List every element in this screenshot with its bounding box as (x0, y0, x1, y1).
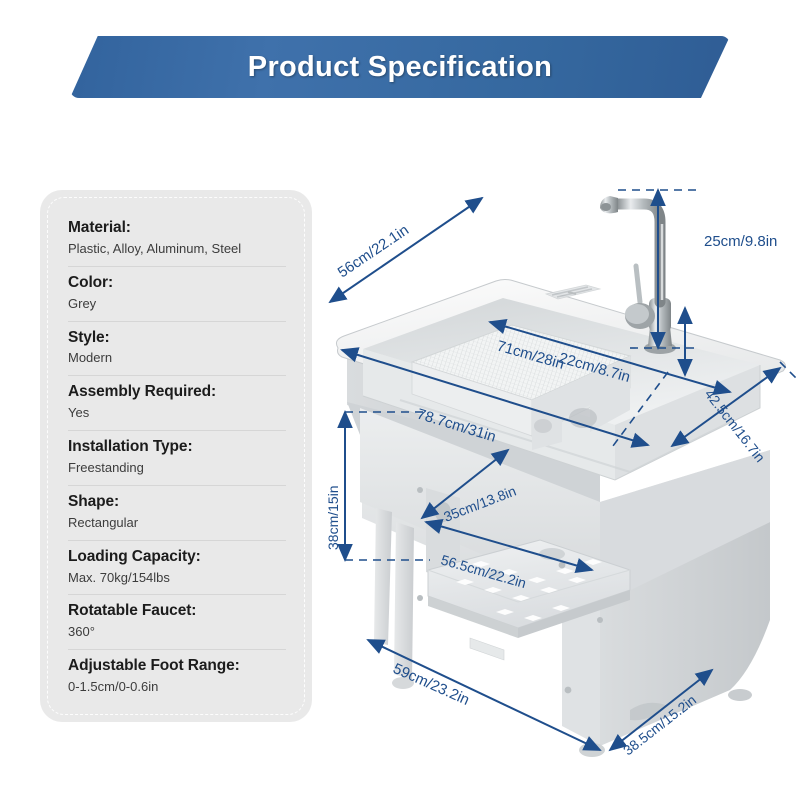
spec-row-assembly-required: Assembly Required: Yes (68, 376, 286, 431)
spec-label: Style: (68, 328, 286, 349)
spec-row-adjustable-foot-range: Adjustable Foot Range: 0-1.5cm/0-0.6in (68, 650, 286, 704)
spec-value: Grey (68, 295, 286, 314)
shelf-drain-ribs (470, 638, 504, 660)
spec-row-shape: Shape: Rectangular (68, 486, 286, 541)
spec-row-rotatable-faucet: Rotatable Faucet: 360° (68, 595, 286, 650)
dimension-label-faucet-height: 25cm/9.8in (704, 233, 777, 250)
dimline-depth-top-left (330, 198, 482, 302)
spec-label: Rotatable Faucet: (68, 601, 286, 622)
specification-panel-inner: Material: Plastic, Alloy, Aluminum, Stee… (47, 197, 305, 715)
spec-label: Assembly Required: (68, 382, 286, 403)
header-banner-area: Product Specification (0, 0, 800, 130)
dimension-label-shelf-height: 38cm/15in (325, 485, 341, 550)
spec-label: Adjustable Foot Range: (68, 656, 286, 677)
specification-panel: Material: Plastic, Alloy, Aluminum, Stee… (40, 190, 312, 722)
spec-row-material: Material: Plastic, Alloy, Aluminum, Stee… (68, 212, 286, 267)
spec-label: Color: (68, 273, 286, 294)
spec-value: Rectangular (68, 514, 286, 533)
spec-value: Yes (68, 404, 286, 423)
spec-value: Modern (68, 349, 286, 368)
spec-row-installation-type: Installation Type: Freestanding (68, 431, 286, 486)
spec-value: Max. 70kg/154lbs (68, 569, 286, 588)
spec-value: Freestanding (68, 459, 286, 478)
faucet-aerator (601, 203, 611, 211)
header-banner: Product Specification (70, 36, 730, 98)
spec-row-color: Color: Grey (68, 267, 286, 322)
spec-label: Material: (68, 218, 286, 239)
foot-rear-right (728, 689, 752, 701)
spec-row-loading-capacity: Loading Capacity: Max. 70kg/154lbs (68, 541, 286, 596)
spec-label: Installation Type: (68, 437, 286, 458)
spec-value: Plastic, Alloy, Aluminum, Steel (68, 240, 286, 259)
product-illustration: 56cm/22.1in 71cm/28in 25cm/9.8in 22cm/8.… (300, 150, 800, 780)
divider-cutout-left (534, 419, 552, 433)
spec-value: 0-1.5cm/0-0.6in (68, 678, 286, 697)
spec-label: Shape: (68, 492, 286, 513)
leg-rear-left (374, 508, 392, 645)
spec-label: Loading Capacity: (68, 547, 286, 568)
page-title: Product Specification (248, 51, 552, 84)
foot-front-right (579, 743, 605, 757)
spec-row-style: Style: Modern (68, 322, 286, 377)
faucet-handle-cap (625, 304, 649, 324)
faucet-lever (636, 266, 640, 302)
rim-drainboard-detail (546, 285, 600, 299)
spec-value: 360° (68, 623, 286, 642)
